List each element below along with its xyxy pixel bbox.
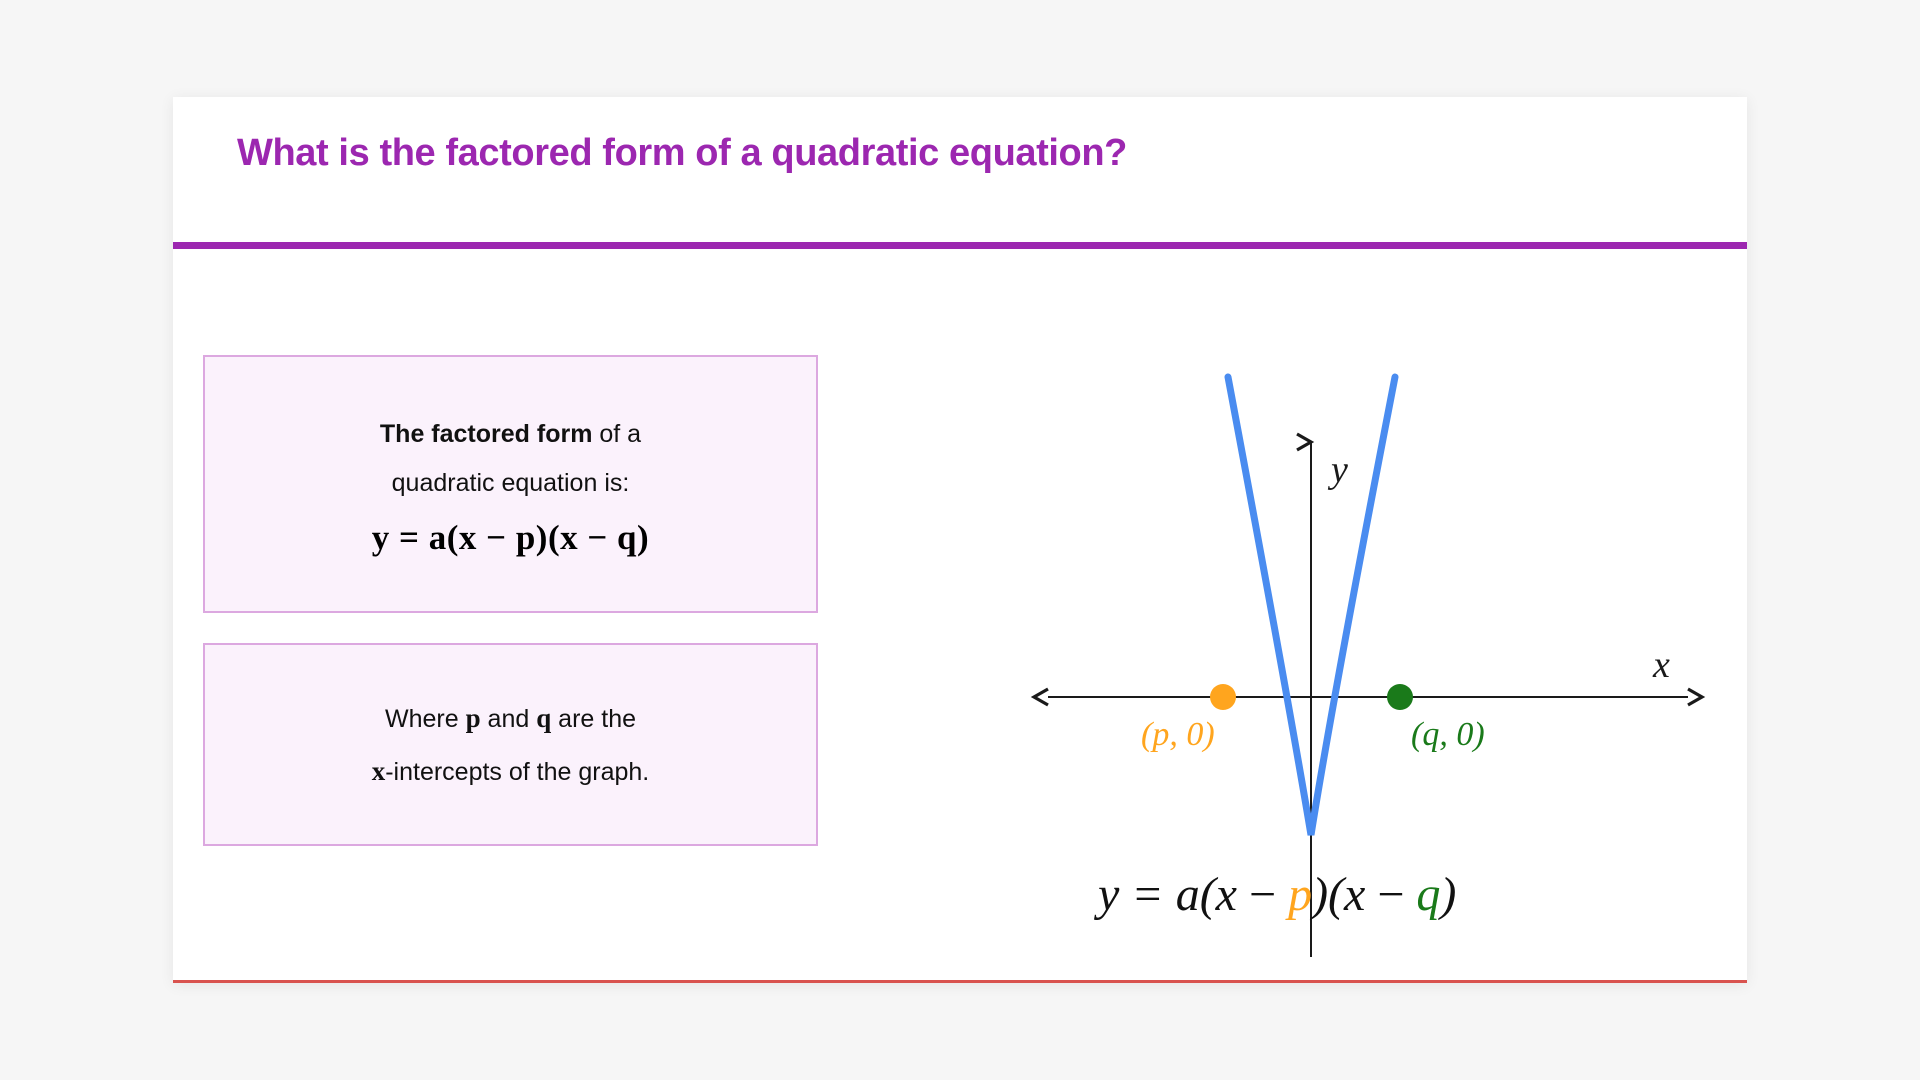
info-box-2-var-x: x — [372, 756, 386, 786]
info-box-1-bold-text: The factored form — [380, 420, 593, 448]
equation-var-q: q — [1416, 868, 1440, 921]
equation-prefix: y = a(x — [1098, 868, 1249, 921]
equation-minus-2: − — [1377, 868, 1404, 921]
equation-mid: )(x — [1312, 868, 1377, 921]
info-box-2-var-p: p — [466, 703, 481, 733]
info-box-2-line-2: x-intercepts of the graph. — [372, 745, 650, 798]
point-q-marker — [1387, 684, 1413, 710]
point-p-marker — [1210, 684, 1236, 710]
info-box-2-post-text: are the — [551, 705, 636, 733]
page-title: What is the factored form of a quadratic… — [237, 132, 1127, 175]
equation-var-p: p — [1288, 868, 1312, 921]
card-bottom-rule — [173, 980, 1747, 983]
info-box-1-rest-text: of a — [592, 420, 641, 448]
point-p-label: (p, 0) — [1141, 716, 1215, 753]
slide-card: What is the factored form of a quadratic… — [173, 97, 1747, 983]
info-box-2-pre-text: Where — [385, 705, 466, 733]
graph-equation: y = a(x − p)(x − q) — [1098, 867, 1456, 922]
parabola-graph: y x (p, 0) (q, 0) y = a(x − p)(x − q) — [833, 257, 1723, 957]
info-box-1-line-2: quadratic equation is: — [392, 459, 630, 508]
info-box-2-line-1: Where p and q are the — [385, 692, 636, 745]
info-box-2-line-2-text: -intercepts of the graph. — [385, 758, 649, 786]
info-box-2-var-q: q — [536, 703, 551, 733]
info-box-intercepts: Where p and q are the x-intercepts of th… — [203, 643, 818, 846]
title-divider — [173, 242, 1747, 249]
y-axis-label: y — [1327, 449, 1348, 491]
equation-minus-1: − — [1249, 868, 1276, 921]
graph-svg: y x (p, 0) (q, 0) — [833, 257, 1723, 957]
info-box-2-mid-text: and — [481, 705, 537, 733]
factored-form-formula: y = a(x − p)(x − q) — [372, 518, 649, 558]
info-box-factored-form: The factored form of a quadratic equatio… — [203, 355, 818, 613]
info-box-1-line-1: The factored form of a — [380, 410, 641, 459]
equation-suffix: ) — [1440, 868, 1456, 921]
x-axis-label: x — [1652, 644, 1670, 686]
point-q-label: (q, 0) — [1411, 716, 1485, 753]
